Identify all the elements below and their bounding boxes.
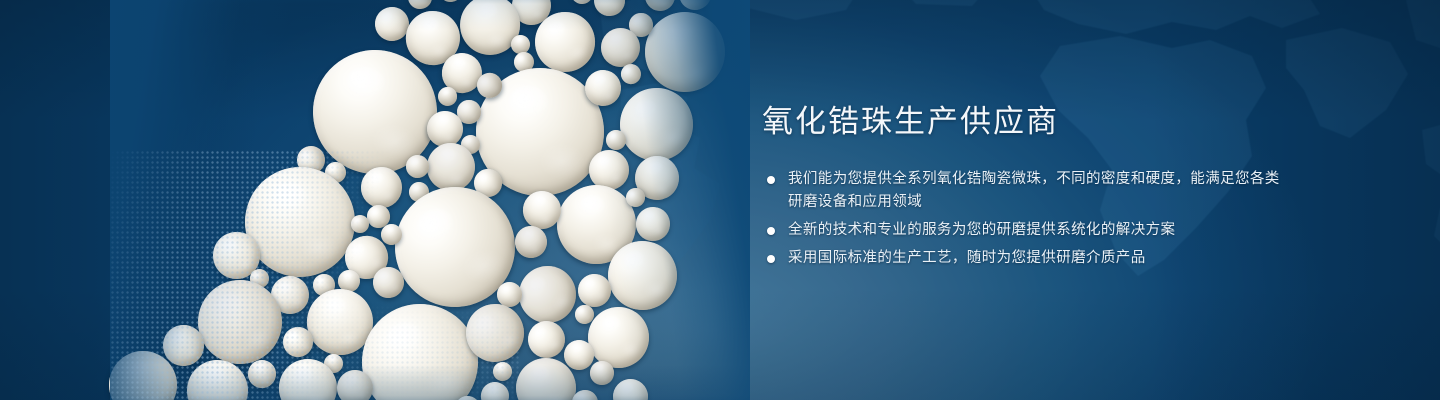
bead [407, 0, 433, 9]
bead-cluster [120, 0, 740, 400]
bead [635, 206, 671, 242]
bead [406, 155, 430, 179]
bead [611, 376, 651, 400]
bead [492, 360, 514, 382]
bead [497, 282, 522, 307]
bead [436, 0, 464, 5]
bead [570, 0, 595, 5]
bead [524, 317, 569, 362]
bead [576, 273, 611, 308]
banner-headline: 氧化锆珠生产供应商 [762, 104, 1282, 140]
bullet-item: 采用国际标准的生产工艺，随时为您提供研磨介质产品 [762, 247, 1282, 270]
banner-copy: 氧化锆珠生产供应商 我们能为您提供全系列氧化锆陶瓷微珠，不同的密度和硬度，能满足… [762, 104, 1282, 275]
bead [355, 297, 484, 400]
bullet-text: 采用国际标准的生产工艺，随时为您提供研磨介质产品 [788, 250, 1146, 266]
bead [607, 240, 678, 311]
bullet-item: 全新的技术和专业的服务为您的研磨提供系统化的解决方案 [762, 219, 1282, 242]
bullet-dot-icon [767, 176, 775, 184]
bead [587, 307, 649, 369]
zirconia-beads-photo [120, 0, 740, 400]
bead [478, 379, 512, 400]
bead [606, 130, 627, 151]
bullet-dot-icon [767, 255, 775, 263]
banner-bullet-list: 我们能为您提供全系列氧化锆陶瓷微珠，不同的密度和硬度，能满足您各类研磨设备和应用… [762, 168, 1282, 270]
bullet-item: 我们能为您提供全系列氧化锆陶瓷微珠，不同的密度和硬度，能满足您各类研磨设备和应用… [762, 168, 1282, 214]
bead [511, 258, 584, 331]
bullet-dot-icon [767, 227, 775, 235]
hero-banner: 氧化锆珠生产供应商 我们能为您提供全系列氧化锆陶瓷微珠，不同的密度和硬度，能满足… [0, 0, 1440, 400]
bullet-text: 我们能为您提供全系列氧化锆陶瓷微珠，不同的密度和硬度，能满足您各类研磨设备和应用… [788, 171, 1280, 210]
bead [616, 83, 698, 165]
bead [593, 0, 626, 16]
bullet-text: 全新的技术和专业的服务为您的研磨提供系统化的解决方案 [788, 222, 1175, 238]
bead [360, 167, 402, 209]
bead [601, 28, 641, 68]
